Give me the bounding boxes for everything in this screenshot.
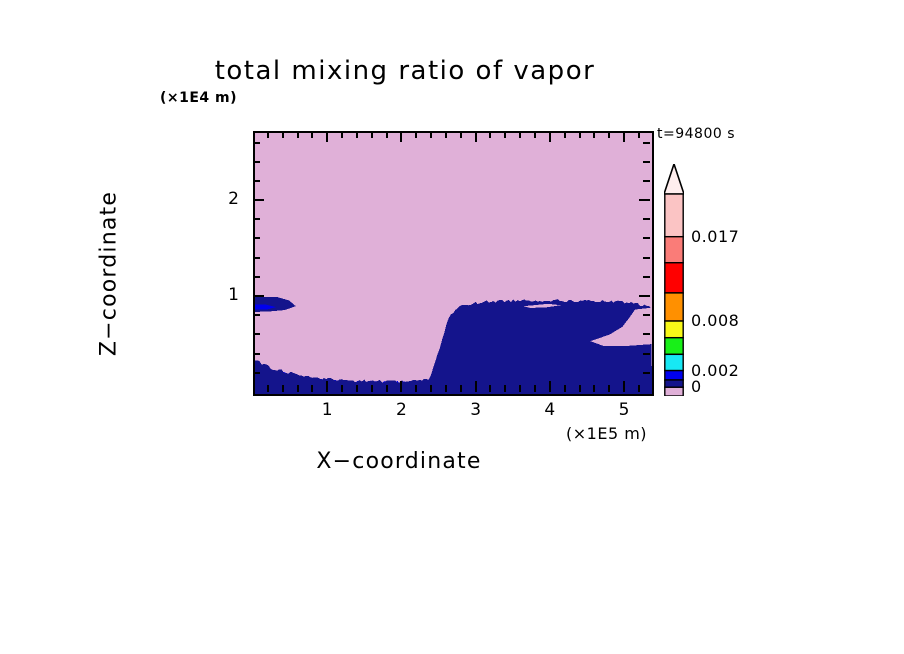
contour-field: [255, 133, 652, 394]
colorbar-swatch: [665, 387, 683, 396]
x-axis-multiplier-label: (×1E5 m): [566, 424, 647, 443]
x-tick-label: 3: [456, 400, 496, 420]
colorbar[interactable]: [664, 164, 684, 396]
colorbar-swatch: [665, 237, 683, 263]
y-tick-minor-right: [643, 218, 650, 220]
y-tick-minor-right: [643, 180, 650, 182]
x-tick-minor-top: [297, 131, 299, 138]
x-tick-minor-top: [415, 131, 417, 138]
y-axis-multiplier-label: (×1E4 m): [160, 90, 237, 106]
x-tick-minor-top: [371, 131, 373, 138]
x-tick-minor: [297, 385, 299, 392]
x-tick-minor-top: [341, 131, 343, 138]
x-tick-minor: [311, 385, 313, 392]
x-tick-major: [326, 381, 328, 392]
x-tick-minor: [460, 385, 462, 392]
x-tick-minor: [579, 385, 581, 392]
x-tick-minor: [638, 385, 640, 392]
x-axis-title: X−coordinate: [0, 449, 851, 474]
x-tick-minor: [341, 385, 343, 392]
x-tick-minor-top: [386, 131, 388, 138]
x-tick-minor-top: [445, 131, 447, 138]
x-tick-minor: [371, 385, 373, 392]
y-tick-minor: [253, 314, 260, 316]
x-tick-minor-top: [593, 131, 595, 138]
x-tick-minor: [356, 385, 358, 392]
y-tick-minor-right: [643, 142, 650, 144]
x-tick-minor: [489, 385, 491, 392]
x-tick-minor-top: [579, 131, 581, 138]
y-tick-minor-right: [643, 314, 650, 316]
y-tick-minor-right: [643, 372, 650, 374]
x-tick-label: 1: [307, 400, 347, 420]
colorbar-swatch: [665, 371, 683, 380]
y-tick-minor: [253, 333, 260, 335]
x-tick-minor-top: [460, 131, 462, 138]
y-tick-minor-right: [643, 333, 650, 335]
colorbar-swatch: [665, 321, 683, 338]
x-tick-minor-top: [282, 131, 284, 138]
x-tick-minor: [430, 385, 432, 392]
x-tick-minor: [504, 385, 506, 392]
x-tick-major: [400, 381, 402, 392]
x-tick-minor-top: [430, 131, 432, 138]
x-tick-minor-top: [534, 131, 536, 138]
y-tick-minor-right: [643, 276, 650, 278]
x-tick-major-top: [326, 131, 328, 142]
x-tick-minor: [519, 385, 521, 392]
x-tick-minor: [534, 385, 536, 392]
y-tick-minor: [253, 372, 260, 374]
x-tick-minor-top: [638, 131, 640, 138]
x-tick-minor-top: [519, 131, 521, 138]
y-tick-minor: [253, 257, 260, 259]
x-tick-major: [475, 381, 477, 392]
x-tick-minor: [593, 385, 595, 392]
y-tick-major-right: [639, 199, 650, 201]
y-tick-major-right: [639, 295, 650, 297]
x-tick-major: [623, 381, 625, 392]
y-tick-minor: [253, 142, 260, 144]
x-tick-minor: [564, 385, 566, 392]
page-title: total mixing ratio of vapor: [0, 56, 857, 86]
y-axis-title: Z−coordinate: [97, 154, 122, 394]
figure-root: total mixing ratio of vapor (×1E4 m) t=9…: [0, 0, 904, 654]
colorbar-label: 0.008: [691, 311, 739, 330]
y-tick-minor: [253, 180, 260, 182]
x-tick-minor: [282, 385, 284, 392]
colorbar-swatch: [665, 194, 683, 237]
x-tick-minor-top: [267, 131, 269, 138]
x-tick-label: 2: [381, 400, 421, 420]
y-tick-label: 2: [209, 189, 239, 209]
colorbar-swatch: [665, 293, 683, 321]
x-tick-minor: [267, 385, 269, 392]
colorbar-label: 0: [691, 377, 702, 396]
x-tick-minor: [608, 385, 610, 392]
y-tick-major: [253, 199, 264, 201]
x-tick-label: 5: [604, 400, 644, 420]
x-tick-minor-top: [564, 131, 566, 138]
x-tick-major-top: [475, 131, 477, 142]
colorbar-arrow-tip: [664, 164, 684, 194]
x-tick-major: [549, 381, 551, 392]
y-tick-label: 1: [209, 285, 239, 305]
colorbar-swatch: [665, 338, 683, 355]
x-tick-major-top: [549, 131, 551, 142]
y-tick-minor: [253, 237, 260, 239]
time-annotation: t=94800 s: [657, 126, 735, 142]
y-tick-minor-right: [643, 161, 650, 163]
y-tick-minor-right: [643, 237, 650, 239]
y-tick-minor: [253, 161, 260, 163]
y-tick-minor: [253, 276, 260, 278]
x-tick-label: 4: [530, 400, 570, 420]
x-tick-major-top: [400, 131, 402, 142]
x-tick-minor-top: [608, 131, 610, 138]
contour-plot-area[interactable]: [253, 131, 654, 396]
colorbar-swatch: [665, 354, 683, 370]
y-tick-minor: [253, 353, 260, 355]
x-tick-minor: [415, 385, 417, 392]
y-tick-minor-right: [643, 257, 650, 259]
colorbar-swatch: [665, 380, 683, 387]
x-tick-minor-top: [489, 131, 491, 138]
x-tick-minor-top: [311, 131, 313, 138]
x-tick-minor-top: [504, 131, 506, 138]
x-tick-minor: [445, 385, 447, 392]
colorbar-label: 0.017: [691, 227, 739, 246]
y-tick-minor: [253, 218, 260, 220]
y-tick-major: [253, 295, 264, 297]
x-tick-minor-top: [356, 131, 358, 138]
y-tick-minor-right: [643, 353, 650, 355]
colorbar-swatches: [664, 164, 684, 396]
x-tick-minor: [386, 385, 388, 392]
colorbar-swatch: [665, 263, 683, 293]
x-tick-major-top: [623, 131, 625, 142]
